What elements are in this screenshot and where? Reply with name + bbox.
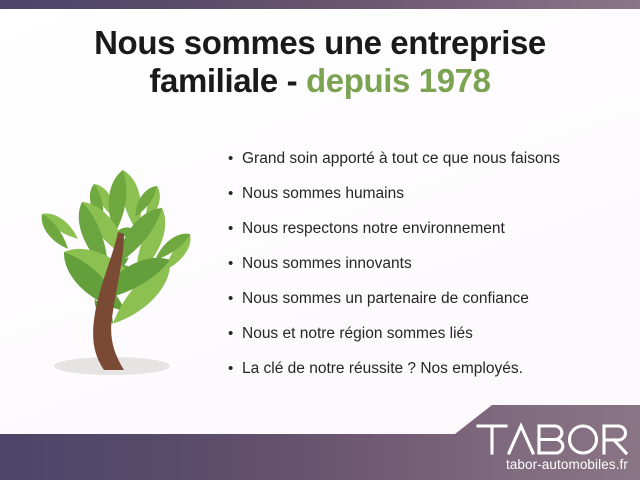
list-item: • Nous sommes humains	[228, 185, 628, 220]
list-item-label: Nous et notre région sommes liés	[242, 325, 473, 343]
bullet-marker-icon: •	[228, 326, 242, 341]
value-bullet-list: • Grand soin apporté à tout ce que nous …	[228, 150, 628, 395]
bullet-marker-icon: •	[228, 221, 242, 236]
list-item: • Nous et notre région sommes liés	[228, 325, 628, 360]
bullet-marker-icon: •	[228, 151, 242, 166]
page-title-accent: depuis 1978	[306, 62, 491, 99]
list-item: • Nous respectons notre environnement	[228, 220, 628, 255]
list-item-label: Nous respectons notre environnement	[242, 220, 505, 238]
tabor-wordmark-icon	[476, 422, 628, 456]
bullet-marker-icon: •	[228, 186, 242, 201]
slide-canvas: Nous sommes une entreprise familiale - d…	[0, 0, 640, 480]
brand-tagline: tabor-automobiles.fr	[476, 457, 628, 472]
page-title-line-2: familiale - depuis 1978	[0, 62, 640, 100]
list-item-label: Nous sommes un partenaire de confiance	[242, 290, 529, 308]
list-item: • La clé de notre réussite ? Nos employé…	[228, 360, 628, 395]
top-accent-bar	[0, 0, 640, 9]
bullet-marker-icon: •	[228, 291, 242, 306]
list-item-label: Grand soin apporté à tout ce que nous fa…	[242, 150, 560, 168]
bullet-marker-icon: •	[228, 361, 242, 376]
page-title-line-1: Nous sommes une entreprise	[94, 24, 546, 61]
list-item-label: Nous sommes innovants	[242, 255, 412, 273]
list-item: • Grand soin apporté à tout ce que nous …	[228, 150, 628, 185]
tree-illustration	[12, 148, 222, 388]
brand-logo[interactable]: tabor-automobiles.fr	[476, 422, 628, 472]
list-item: • Nous sommes un partenaire de confiance	[228, 290, 628, 325]
list-item-label: La clé de notre réussite ? Nos employés.	[242, 360, 523, 378]
list-item: • Nous sommes innovants	[228, 255, 628, 290]
page-title: Nous sommes une entreprise familiale - d…	[0, 24, 640, 99]
bullet-marker-icon: •	[228, 256, 242, 271]
page-title-line-2-plain: familiale -	[149, 62, 297, 99]
list-item-label: Nous sommes humains	[242, 185, 404, 203]
